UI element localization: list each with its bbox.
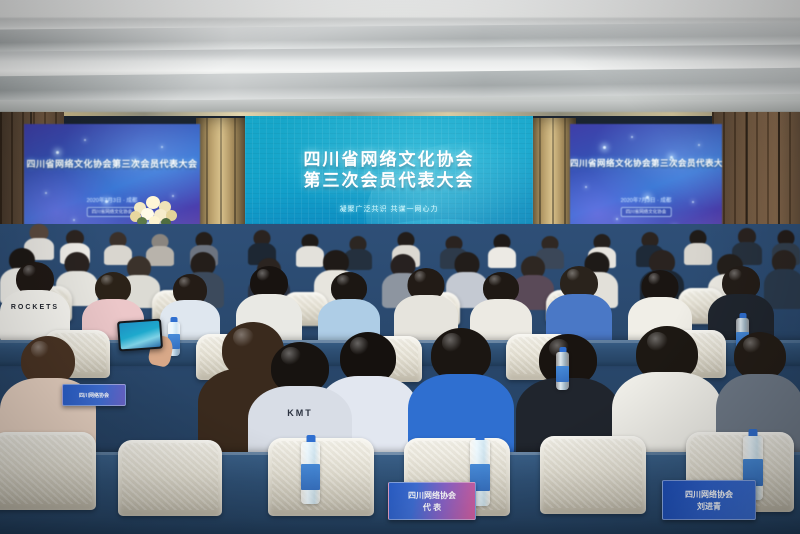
water-bottle xyxy=(556,352,569,390)
conference-hall-photo: 四川省网络文化协会第三次会员代表大会 2020年7月3日 · 成都 四川省网络文… xyxy=(0,0,800,534)
shirt-text-kmt: KMT xyxy=(248,408,352,418)
placard-org: 四川网络协会 xyxy=(408,490,456,501)
placard-name: 代 表 xyxy=(423,502,441,513)
water-bottle xyxy=(301,442,320,504)
placard-org: 四川网络协会 xyxy=(685,489,733,500)
name-placard: 四川网络协会 代 表 xyxy=(388,482,476,520)
ceiling-beam-2 xyxy=(0,68,800,103)
attendee-rockets-shirt: ROCKETS xyxy=(0,262,70,340)
placard-name: 刘进青 xyxy=(697,501,721,512)
shirt-text-rockets: ROCKETS xyxy=(0,304,70,311)
name-placard: 四川网络协会 xyxy=(62,384,126,406)
placard-org: 四川网络协会 xyxy=(79,392,109,399)
ceiling-beam-1 xyxy=(0,22,800,51)
smartphone-recording xyxy=(117,319,163,352)
name-placard: 四川网络协会 刘进青 xyxy=(662,480,756,520)
ceiling xyxy=(0,0,800,118)
